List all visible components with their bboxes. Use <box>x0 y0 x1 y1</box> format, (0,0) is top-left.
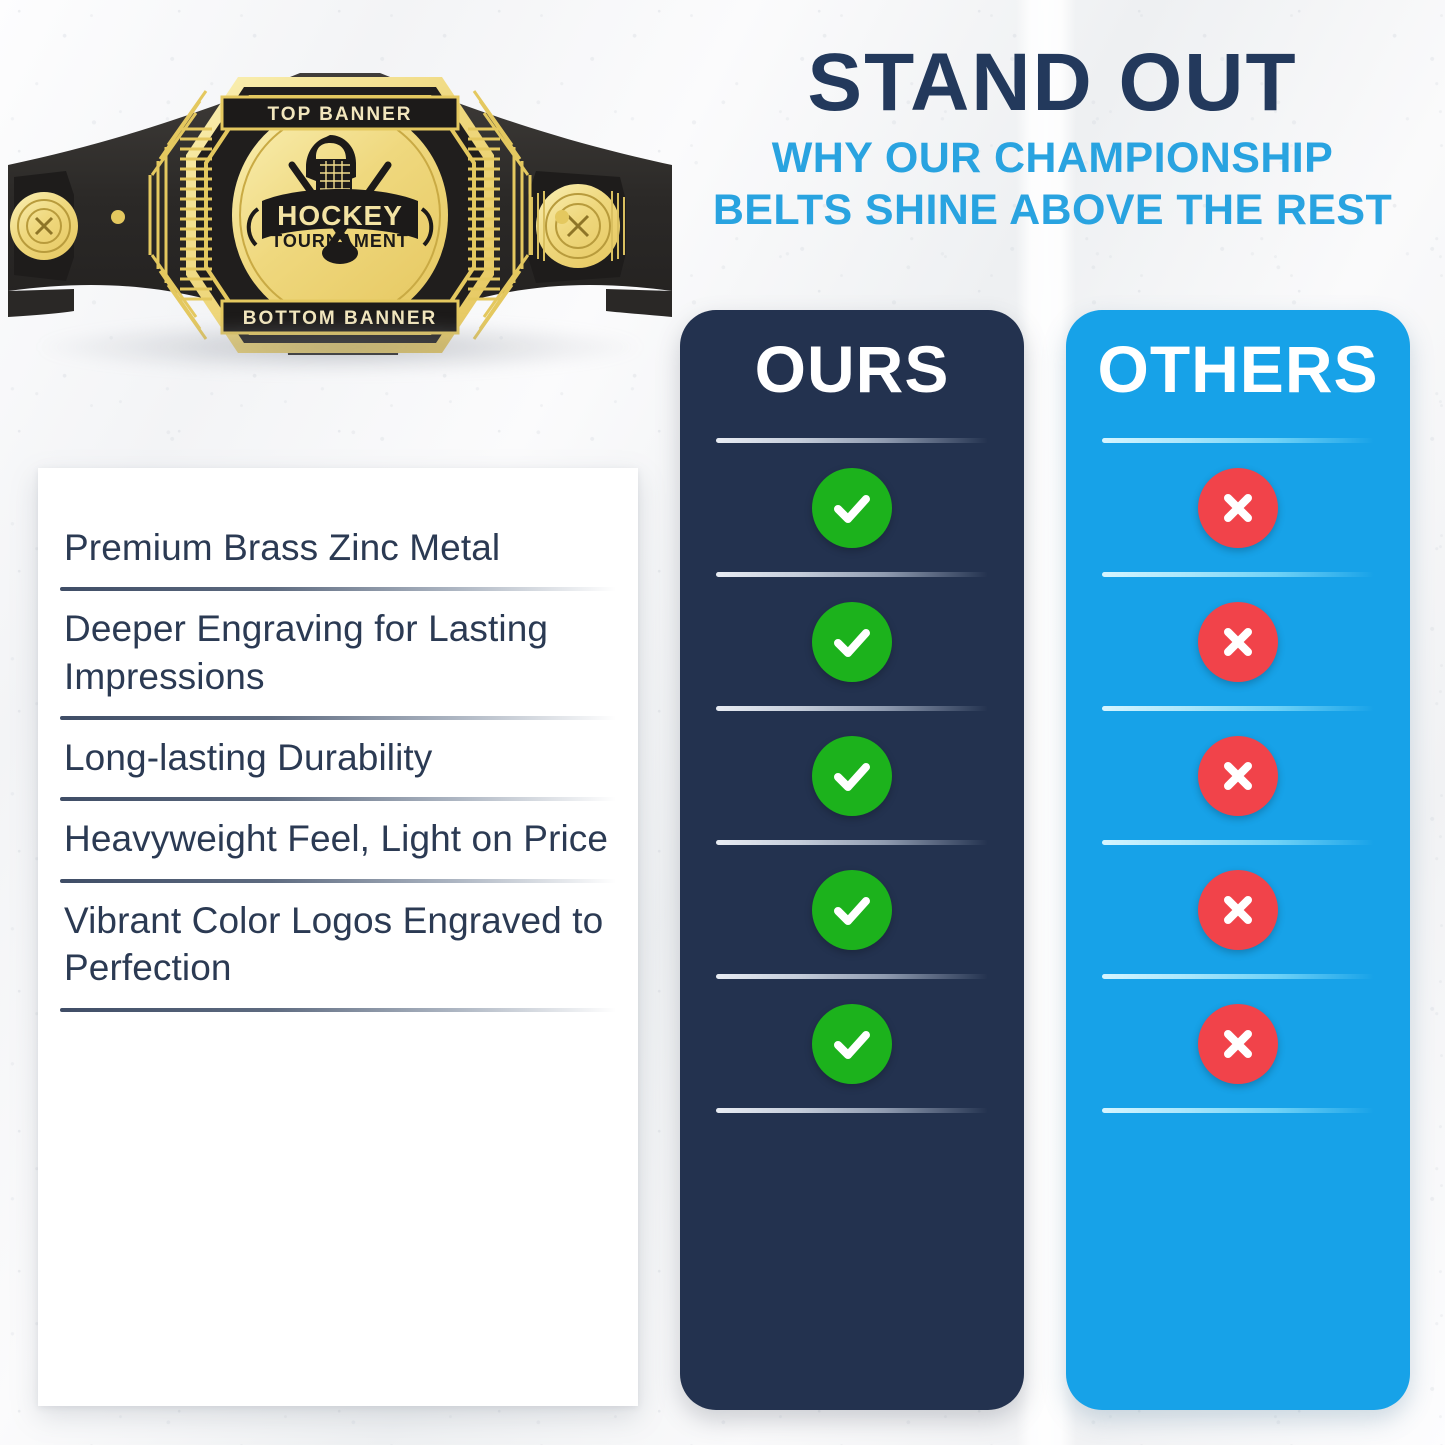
cross-icon <box>1198 468 1278 548</box>
subtitle-line-2: BELTS SHINE ABOVE THE REST <box>660 184 1445 236</box>
feature-list-card: Premium Brass Zinc Metal Deeper Engravin… <box>38 468 638 1406</box>
row-divider <box>716 1108 988 1113</box>
feature-item: Vibrant Color Logos Engraved to Perfecti… <box>60 883 616 1012</box>
feature-label: Long-lasting Durability <box>60 720 616 797</box>
feature-item: Deeper Engraving for Lasting Impressions <box>60 591 616 720</box>
feature-divider <box>60 1008 616 1012</box>
cross-icon <box>1198 1004 1278 1084</box>
mark-row <box>1102 577 1374 706</box>
comparison-column-ours: OURS <box>680 310 1024 1410</box>
row-divider <box>1102 1108 1374 1113</box>
mark-row <box>1102 443 1374 572</box>
feature-label: Heavyweight Feel, Light on Price <box>60 801 616 878</box>
mark-row <box>716 577 988 706</box>
column-title-ours: OURS <box>680 336 1024 402</box>
comparison-column-others: OTHERS <box>1066 310 1410 1410</box>
others-mark-rows <box>1102 438 1374 1113</box>
feature-item: Premium Brass Zinc Metal <box>60 510 616 591</box>
mark-row <box>716 443 988 572</box>
mark-row <box>1102 711 1374 840</box>
feature-item: Long-lasting Durability <box>60 720 616 801</box>
belt-logo-line1: HOCKEY <box>277 200 403 231</box>
feature-label: Deeper Engraving for Lasting Impressions <box>60 591 616 716</box>
cross-icon <box>1198 870 1278 950</box>
cross-icon <box>1198 736 1278 816</box>
heading-block: STAND OUT WHY OUR CHAMPIONSHIP BELTS SHI… <box>660 42 1445 237</box>
ours-mark-rows <box>716 438 988 1113</box>
mark-row <box>716 711 988 840</box>
feature-label: Vibrant Color Logos Engraved to Perfecti… <box>60 883 616 1008</box>
mark-row <box>716 845 988 974</box>
mark-row <box>1102 979 1374 1108</box>
championship-belt-image: TOP BANNER BOTTOM BANNER HOCKEY TOURNAME… <box>0 25 680 385</box>
mark-row <box>716 979 988 1108</box>
check-icon <box>812 870 892 950</box>
feature-list: Premium Brass Zinc Metal Deeper Engravin… <box>60 510 616 1012</box>
belt-top-banner-text: TOP BANNER <box>268 104 413 125</box>
check-icon <box>812 602 892 682</box>
check-icon <box>812 1004 892 1084</box>
feature-label: Premium Brass Zinc Metal <box>60 510 616 587</box>
mark-row <box>1102 845 1374 974</box>
belt-drop-shadow <box>40 320 640 374</box>
check-icon <box>812 468 892 548</box>
column-title-others: OTHERS <box>1066 336 1410 402</box>
cross-icon <box>1198 602 1278 682</box>
page-title: STAND OUT <box>660 42 1445 124</box>
subtitle-line-1: WHY OUR CHAMPIONSHIP <box>660 132 1445 184</box>
check-icon <box>812 736 892 816</box>
feature-item: Heavyweight Feel, Light on Price <box>60 801 616 882</box>
belt-logo-line2: TOURNAMENT <box>271 231 409 251</box>
